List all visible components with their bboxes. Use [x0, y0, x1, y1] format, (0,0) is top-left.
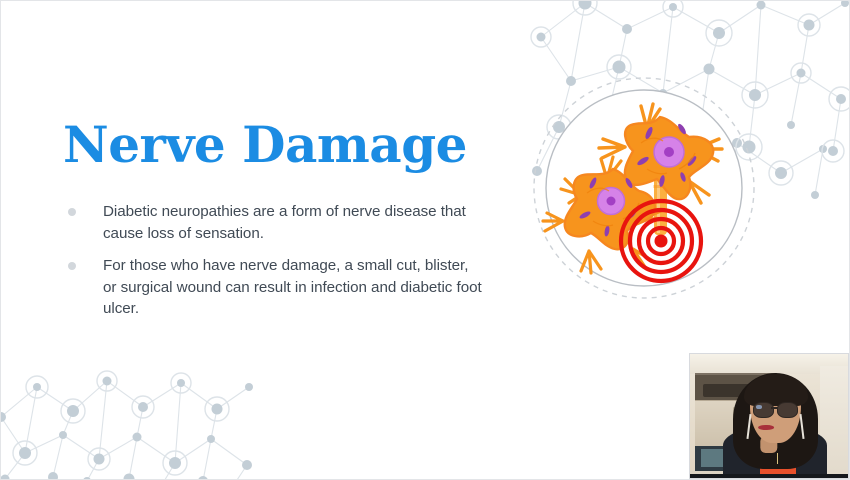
list-item: For those who have nerve damage, a small…: [63, 255, 483, 320]
nerve-cells-damage-illustration: [529, 73, 759, 303]
presentation-slide: Nerve Damage Diabetic neuropathies are a…: [0, 0, 850, 480]
webcam-video-feed: [690, 354, 848, 478]
webcam-letterbox-bar: [690, 474, 848, 478]
list-item: Diabetic neuropathies are a form of nerv…: [63, 201, 483, 244]
bullet-list: Diabetic neuropathies are a form of nerv…: [63, 201, 483, 331]
bullet-dot-icon: [68, 262, 76, 270]
nucleolus: [607, 197, 616, 206]
presenter-webcam[interactable]: [689, 353, 849, 479]
list-item-text: Diabetic neuropathies are a form of nerv…: [103, 203, 466, 242]
presenter-eyeglasses-bridge: [771, 407, 778, 409]
nucleolus: [664, 147, 674, 157]
presenter-eyeglasses-glare: [756, 405, 762, 409]
page-title: Nerve Damage: [63, 118, 467, 171]
presenter-necklace: [777, 453, 778, 464]
bullet-dot-icon: [68, 208, 76, 216]
list-item-text: For those who have nerve damage, a small…: [103, 257, 482, 317]
background-network-pattern-bottom-left: [0, 353, 255, 480]
webcam-background-object: [701, 449, 723, 466]
presenter-eyeglasses-right-lens: [777, 402, 798, 418]
